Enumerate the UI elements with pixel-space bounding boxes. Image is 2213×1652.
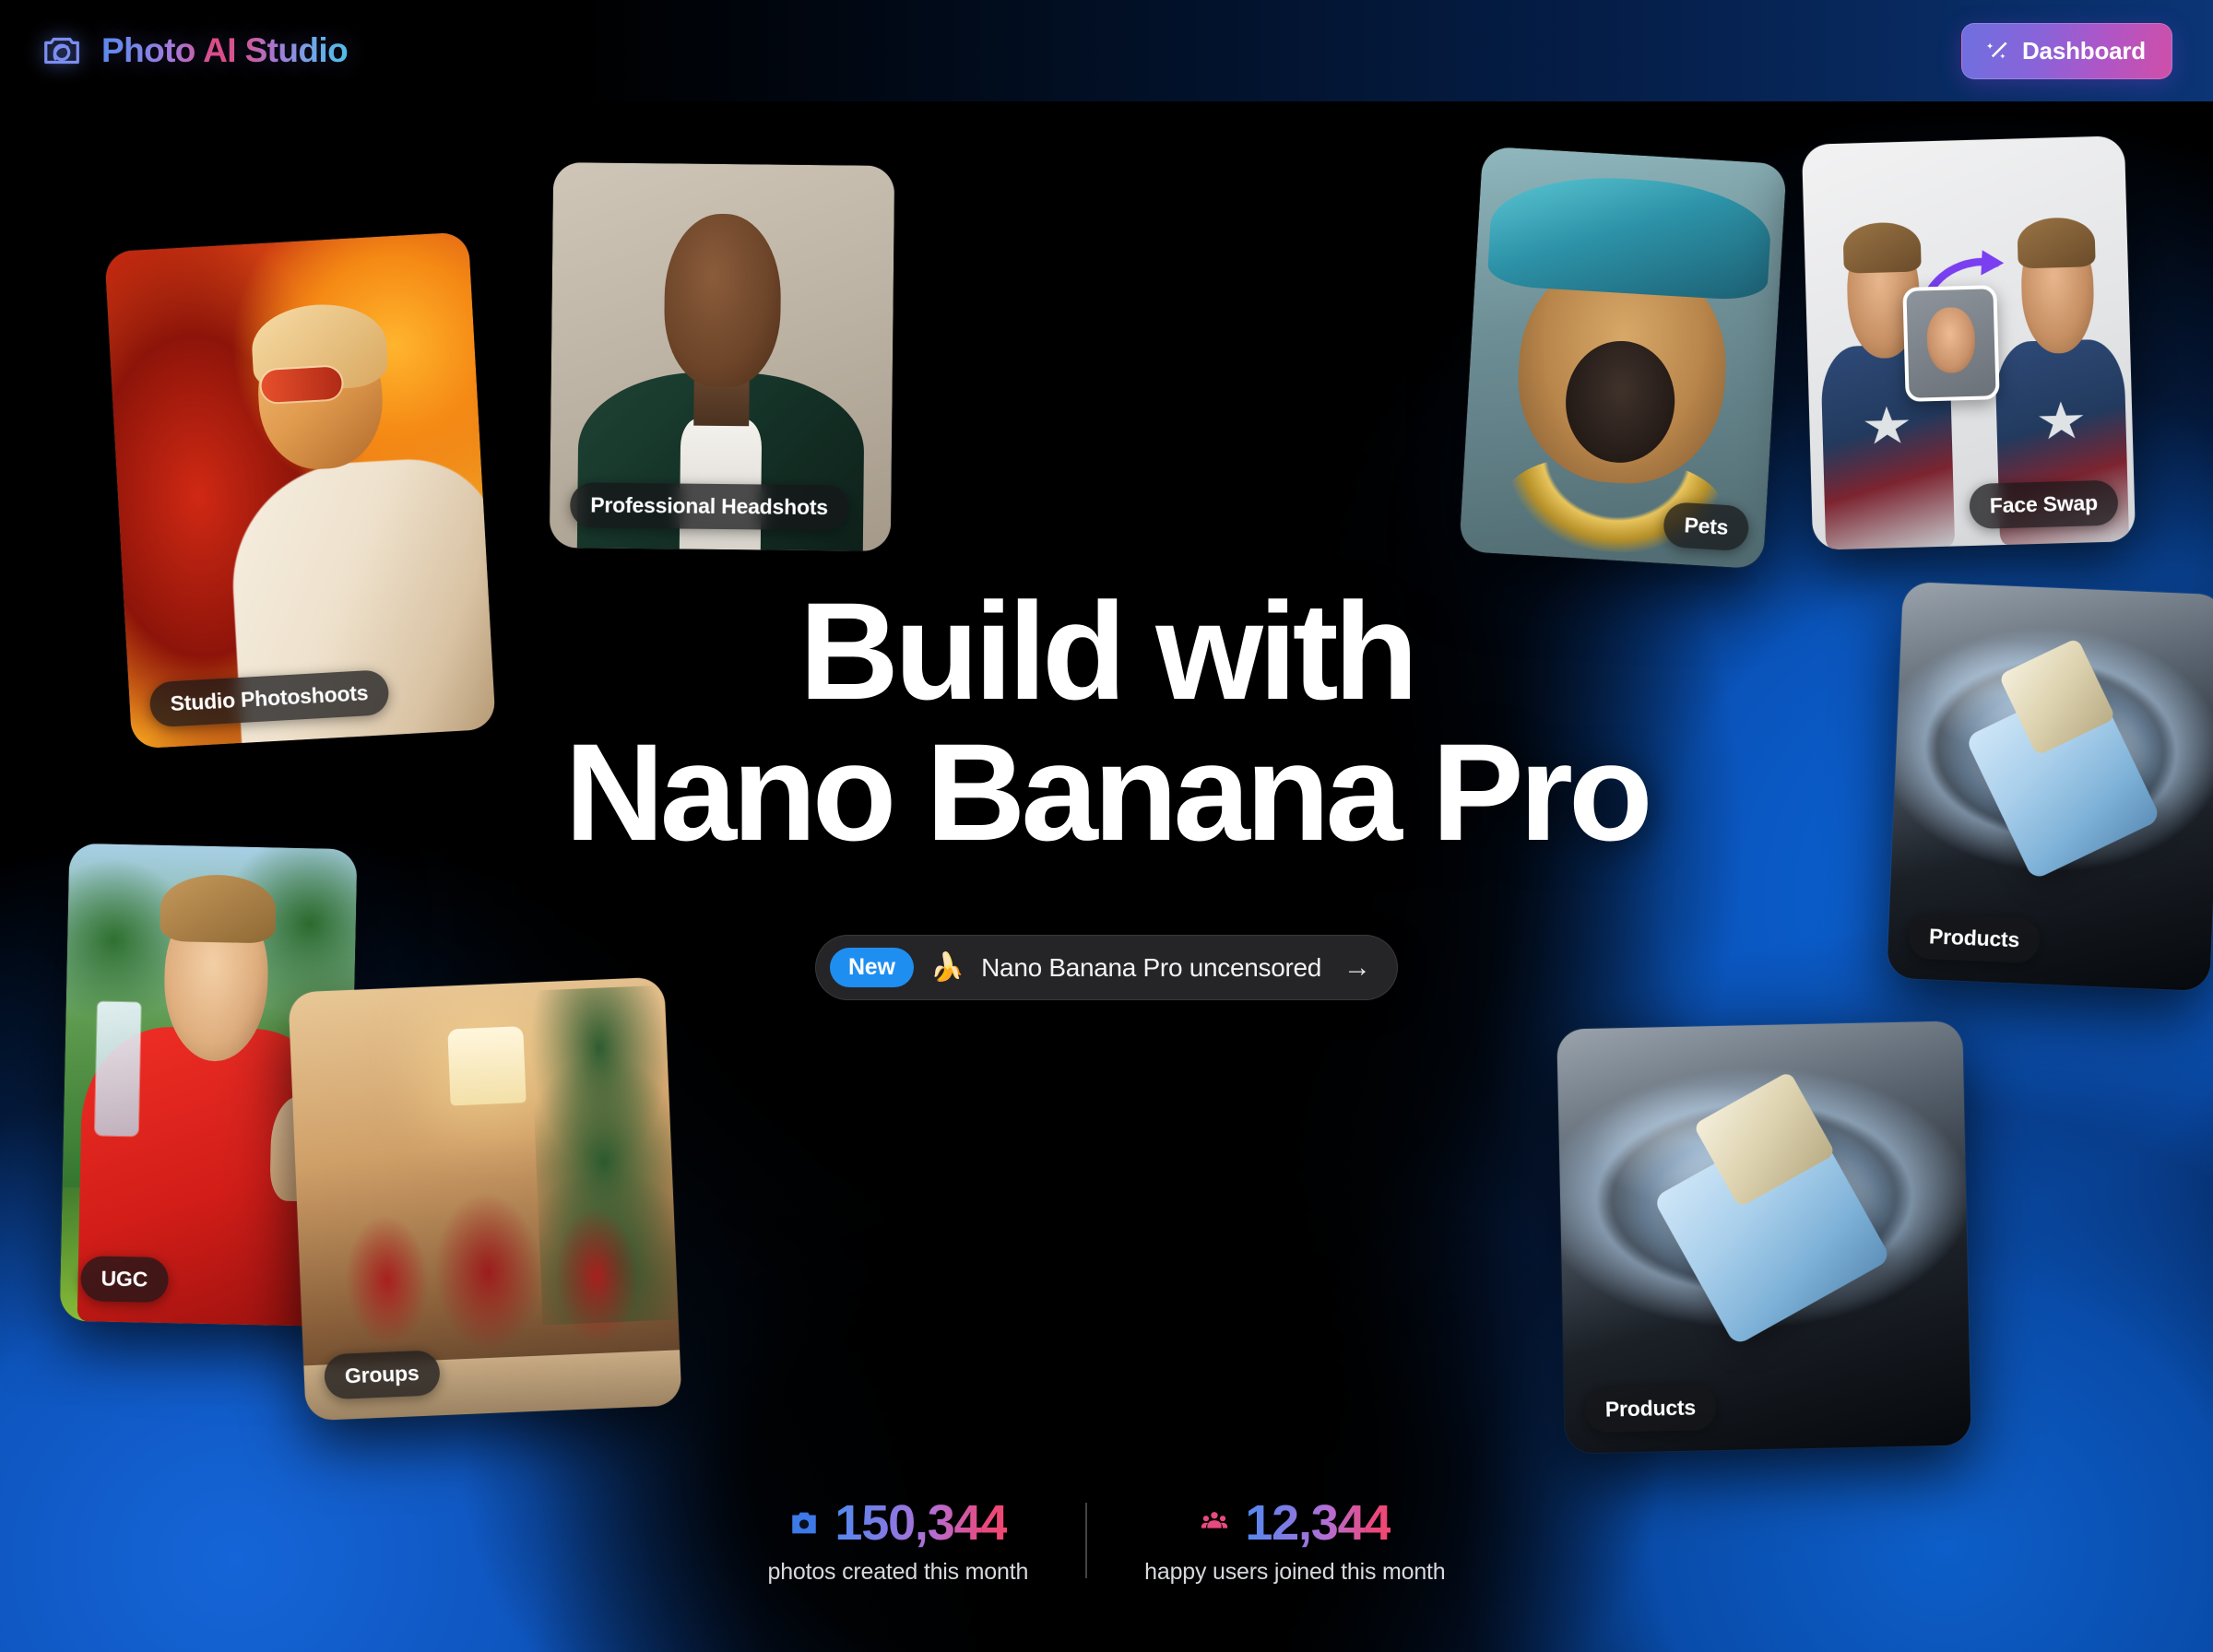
sparkle-wand-icon xyxy=(1984,39,2009,64)
arrow-right-icon: → xyxy=(1343,954,1371,982)
announcement-pill[interactable]: New 🍌 Nano Banana Pro uncensored → xyxy=(815,935,1398,1000)
card-label-pets: Pets xyxy=(1663,501,1750,551)
model-sunglasses xyxy=(261,366,343,403)
users-icon xyxy=(1199,1507,1230,1539)
inset-face xyxy=(1925,307,1975,374)
stat-users-value: 12,344 xyxy=(1245,1494,1391,1552)
new-badge: New xyxy=(830,948,914,987)
banana-emoji-icon: 🍌 xyxy=(930,954,964,982)
card-label-products-lower: Products xyxy=(1584,1385,1716,1433)
pug-cap xyxy=(1487,171,1773,301)
card-label-ugc: UGC xyxy=(80,1256,169,1303)
card-label-headshots: Professional Headshots xyxy=(570,482,848,530)
stats-bar: 150,344 photos created this month 12,344… xyxy=(0,1494,2213,1586)
stat-photos-value: 150,344 xyxy=(834,1494,1007,1552)
stat-photos-created: 150,344 photos created this month xyxy=(710,1494,1085,1586)
stat-users-joined: 12,344 happy users joined this month xyxy=(1087,1494,1502,1586)
camera-icon xyxy=(41,29,83,72)
feature-card-professional-headshots[interactable]: Professional Headshots xyxy=(550,162,894,551)
camera-icon xyxy=(788,1507,820,1539)
dashboard-button-label: Dashboard xyxy=(2022,37,2146,65)
stat-users-value-row: 12,344 xyxy=(1199,1494,1391,1552)
ugc-water-bottle xyxy=(95,1001,141,1136)
floor-lamp xyxy=(448,1026,527,1106)
face-thumbnail-inset xyxy=(1902,286,1999,402)
top-navigation-bar: Photo AI Studio Dashboard xyxy=(0,0,2213,101)
feature-card-pets[interactable]: Pets xyxy=(1459,147,1787,570)
card-label-products-upper: Products xyxy=(1908,913,2041,963)
source-hair xyxy=(1842,221,1922,274)
result-star-emblem xyxy=(2038,401,2086,442)
feature-card-products-lower[interactable]: Products xyxy=(1556,1021,1971,1453)
stat-photos-value-row: 150,344 xyxy=(788,1494,1007,1552)
feature-card-face-swap[interactable]: Face Swap xyxy=(1802,136,2136,550)
brand-name: Photo AI Studio xyxy=(101,31,348,70)
result-hair xyxy=(2017,217,2096,269)
stat-photos-label: photos created this month xyxy=(767,1559,1028,1586)
feature-card-products-upper[interactable]: Products xyxy=(1887,582,2213,991)
card-label-face-swap: Face Swap xyxy=(1969,480,2118,529)
pets-image xyxy=(1459,147,1787,570)
stat-users-label: happy users joined this month xyxy=(1144,1559,1445,1586)
dashboard-button[interactable]: Dashboard xyxy=(1961,23,2172,79)
feature-card-groups[interactable]: Groups xyxy=(288,977,681,1422)
studio-photoshoot-image xyxy=(104,231,496,749)
headshot-head xyxy=(664,214,782,388)
card-label-groups: Groups xyxy=(324,1350,441,1399)
feature-card-studio-photoshoots[interactable]: Studio Photoshoots xyxy=(104,231,496,749)
announcement-text: Nano Banana Pro uncensored xyxy=(981,953,1321,983)
source-star-emblem xyxy=(1864,406,1911,447)
brand-logo[interactable]: Photo AI Studio xyxy=(41,29,348,72)
